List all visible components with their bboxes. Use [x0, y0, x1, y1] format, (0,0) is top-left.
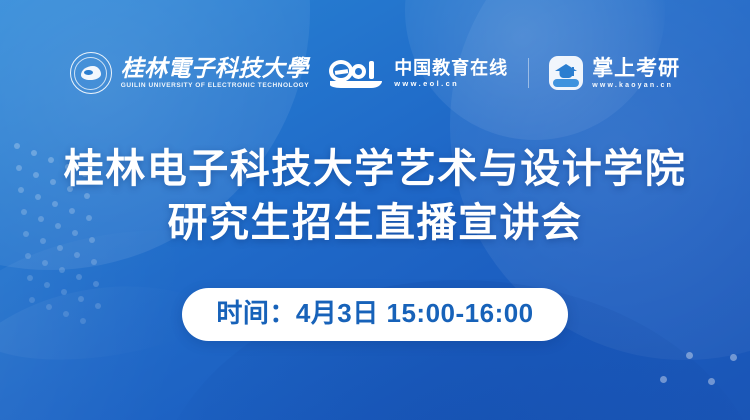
decorative-dot [91, 259, 97, 265]
schedule-pill-wrapper: 时间：4月3日 15:00-16:00 [0, 288, 750, 341]
decorative-dot [660, 376, 667, 383]
dot-grid-pattern-right [656, 346, 736, 398]
eol-logo-icon [329, 58, 385, 88]
decorative-dot [59, 267, 65, 273]
decorative-dot [27, 275, 33, 281]
decorative-dot [686, 352, 693, 359]
eol-name-cn: 中国教育在线 [394, 59, 508, 77]
logo-kaoyan: 掌上考研 www.kaoyan.cn [549, 56, 680, 90]
logo-guilin-university: 桂林電子科技大學 GUILIN UNIVERSITY OF ELECTRONIC… [70, 52, 309, 94]
decorative-dot [708, 378, 715, 385]
glut-name-en: GUILIN UNIVERSITY OF ELECTRONIC TECHNOLO… [121, 83, 309, 90]
graduation-cap-icon [549, 56, 583, 90]
schedule-badge: 时间：4月3日 15:00-16:00 [182, 288, 567, 341]
kaoyan-url: www.kaoyan.cn [592, 82, 680, 89]
headline-line-2: 研究生招生直播宣讲会 [0, 196, 750, 250]
decorative-dot [25, 253, 31, 259]
kaoyan-name-cn: 掌上考研 [592, 58, 680, 79]
logo-row: 桂林電子科技大學 GUILIN UNIVERSITY OF ELECTRONIC… [0, 52, 750, 94]
eol-url: www.eol.cn [394, 80, 508, 88]
decorative-dot [74, 252, 80, 258]
decorative-dot [76, 274, 82, 280]
decorative-dot [730, 354, 737, 361]
logo-eol: 中国教育在线 www.eol.cn [329, 58, 508, 88]
decorative-dot [42, 260, 48, 266]
university-seal-icon [70, 52, 112, 94]
glut-name-cn: 桂林電子科技大學 [121, 57, 309, 80]
live-stream-promo-banner: 桂林電子科技大學 GUILIN UNIVERSITY OF ELECTRONIC… [0, 0, 750, 420]
headline-line-1: 桂林电子科技大学艺术与设计学院 [0, 142, 750, 196]
page-title: 桂林电子科技大学艺术与设计学院 研究生招生直播宣讲会 [0, 142, 750, 250]
decorative-dot [93, 281, 99, 287]
logo-divider [528, 58, 529, 88]
